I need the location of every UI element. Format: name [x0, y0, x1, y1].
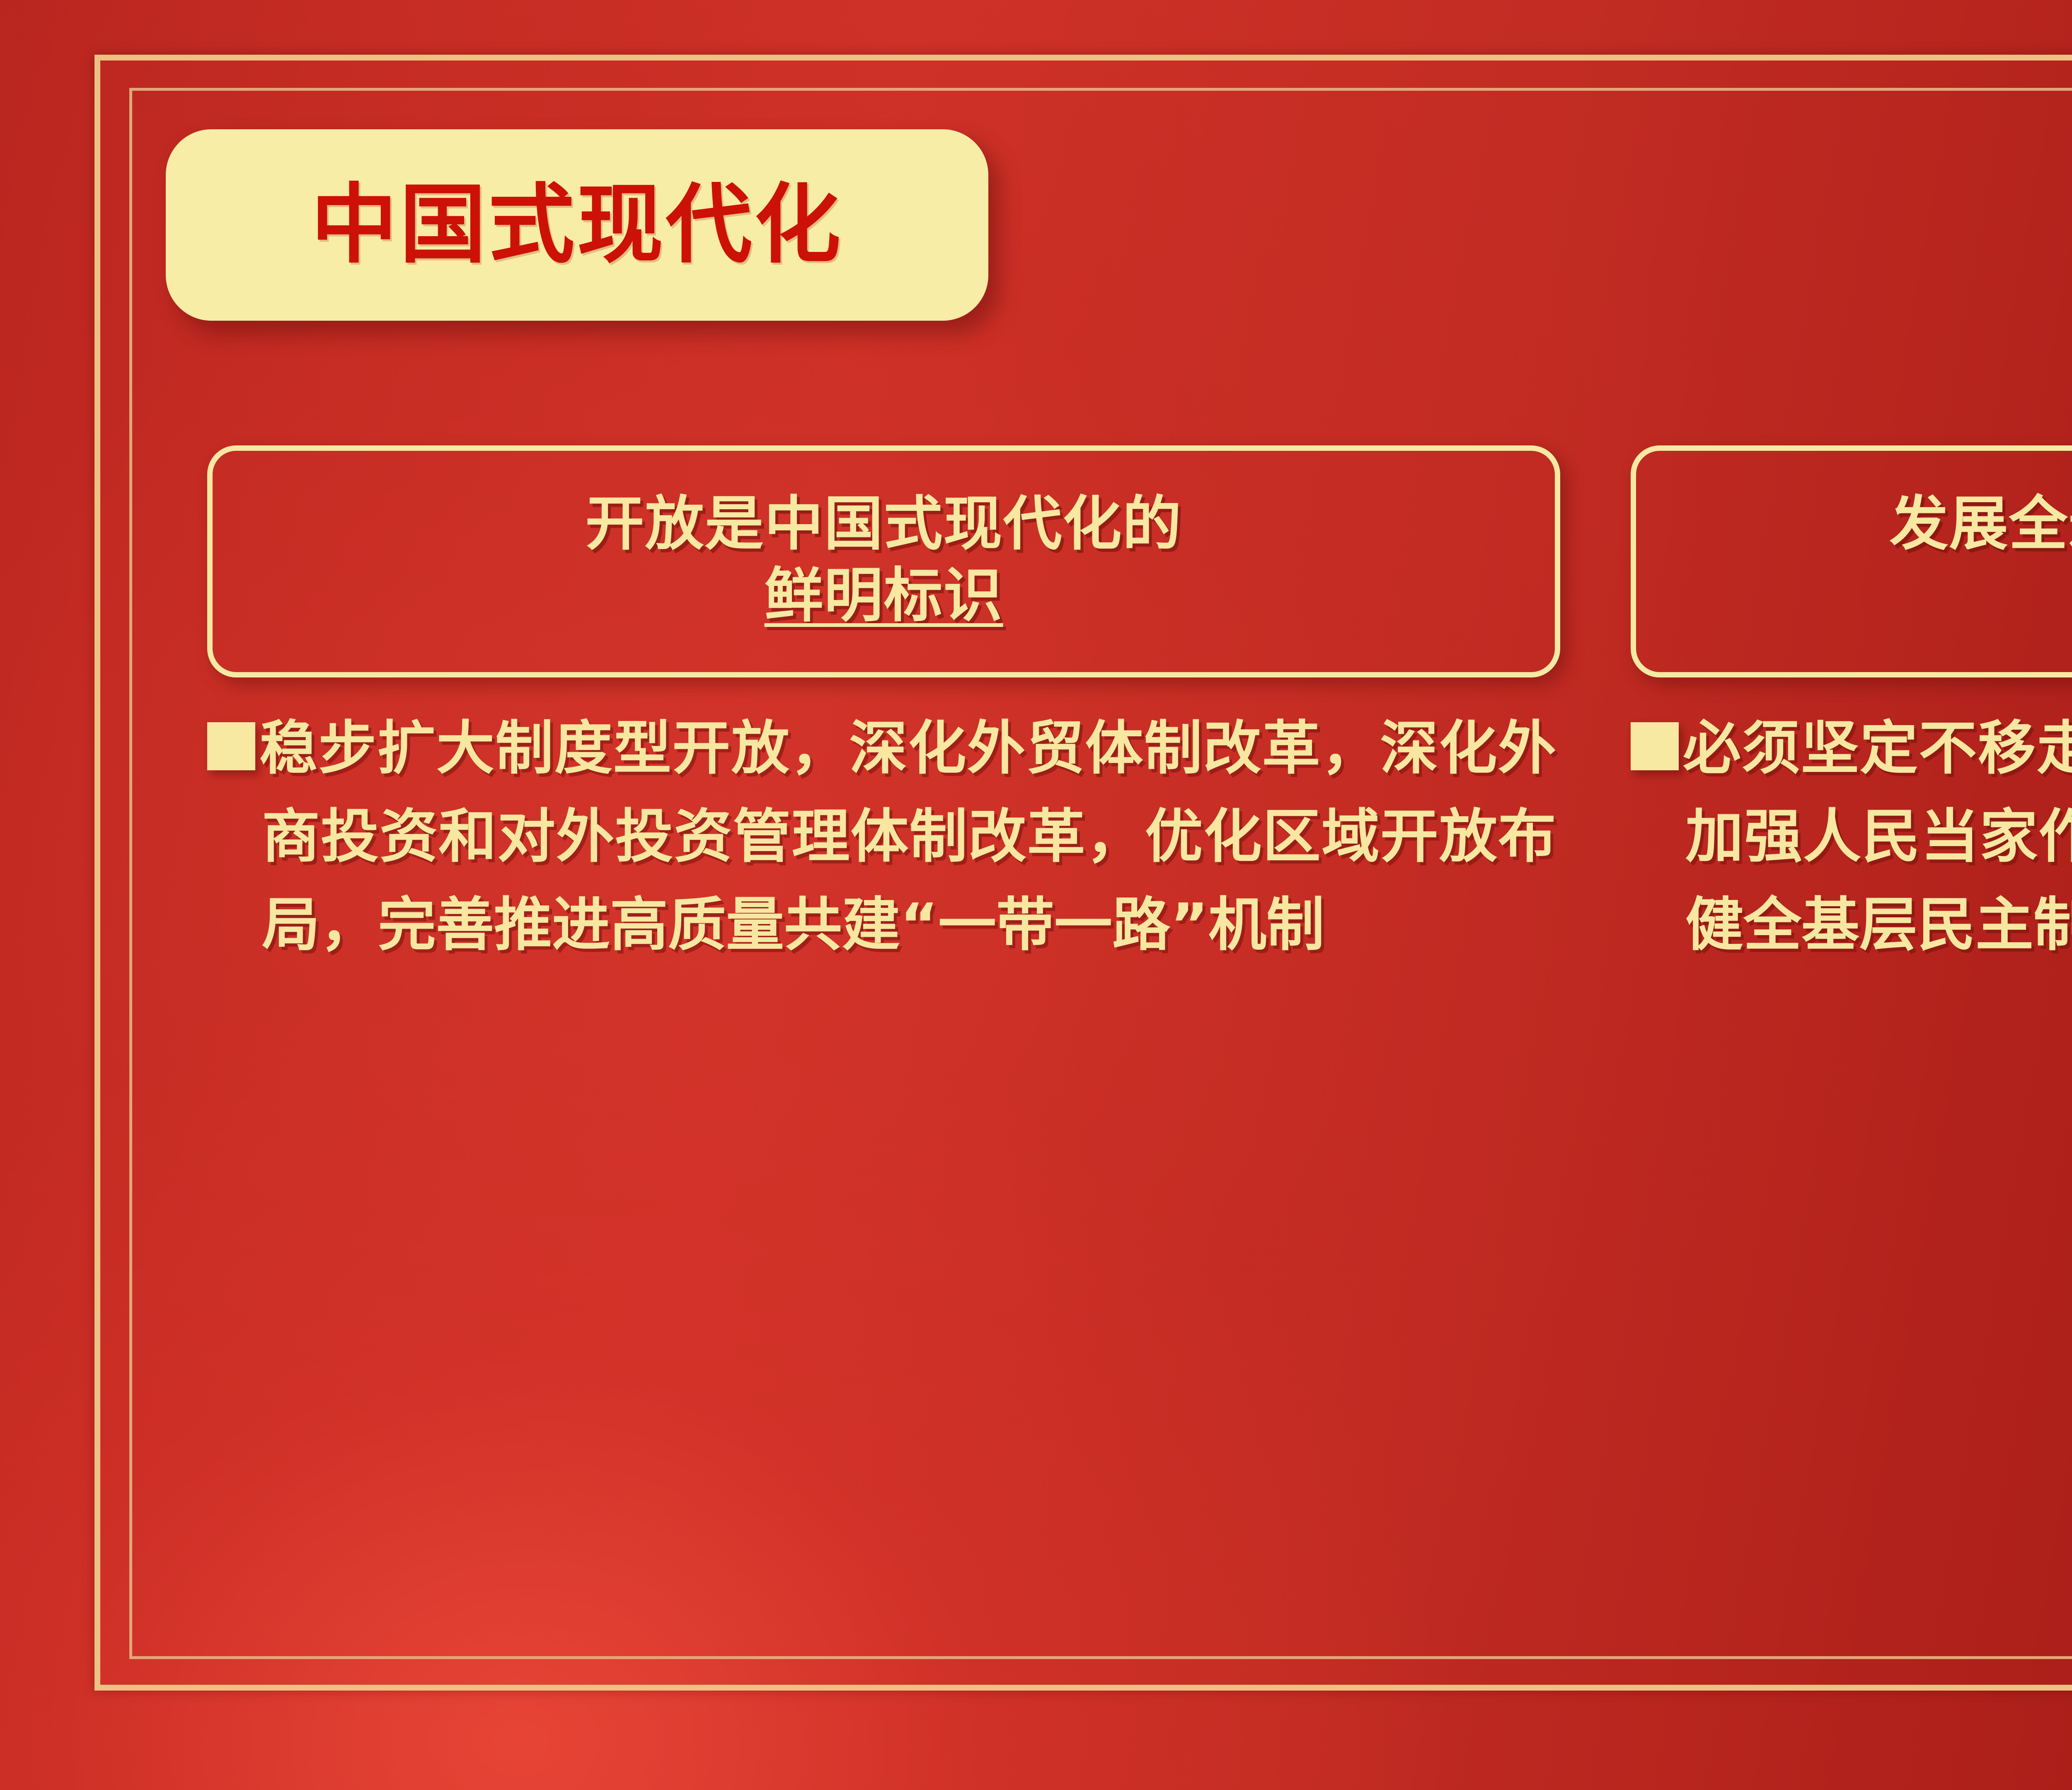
column-right-header-text: 发展全过程人民民主是中国式现 代化的本质要求 [1890, 488, 2072, 631]
page-title: 中国式现代化 [311, 182, 843, 268]
column-left-header-line1: 开放是中国式现代化的 [586, 490, 1182, 558]
title-badge: 中国式现代化 [166, 129, 988, 321]
square-bullet-icon [1631, 722, 1679, 770]
slide-canvas: 中国式现代化 开放是中国式现代化的 鲜明标识 稳步扩大制度型开放，深化外贸体制改… [0, 0, 2072, 1790]
content-columns: 开放是中国式现代化的 鲜明标识 稳步扩大制度型开放，深化外贸体制改革，深化外商投… [207, 445, 2072, 1523]
column-right-header-box: 发展全过程人民民主是中国式现 代化的本质要求 [1631, 445, 2072, 677]
column-left-body-text: 稳步扩大制度型开放，深化外贸体制改革，深化外商投资和对外投资管理体制改革，优化区… [262, 705, 1556, 969]
column-left: 开放是中国式现代化的 鲜明标识 稳步扩大制度型开放，深化外贸体制改革，深化外商投… [207, 445, 1560, 1523]
column-left-header-line2-underlined: 鲜明标识 [765, 561, 1003, 630]
column-right-body: 必须坚定不移走中国特色社会主义政治发展道路。加强人民当家作主制度建设，健全协商民… [1631, 705, 2072, 969]
column-left-header-text: 开放是中国式现代化的 鲜明标识 [586, 488, 1182, 631]
square-bullet-icon [207, 722, 255, 770]
column-right: 发展全过程人民民主是中国式现 代化的本质要求 必须坚定不移走中国特色社会主义政治… [1631, 445, 2072, 1523]
column-right-header-line1: 发展全过程人民民主是中国式现 [1890, 490, 2072, 558]
column-left-header-box: 开放是中国式现代化的 鲜明标识 [207, 445, 1560, 677]
column-left-body: 稳步扩大制度型开放，深化外贸体制改革，深化外商投资和对外投资管理体制改革，优化区… [207, 705, 1560, 969]
column-right-body-text: 必须坚定不移走中国特色社会主义政治发展道路。加强人民当家作主制度建设，健全协商民… [1685, 705, 2072, 969]
